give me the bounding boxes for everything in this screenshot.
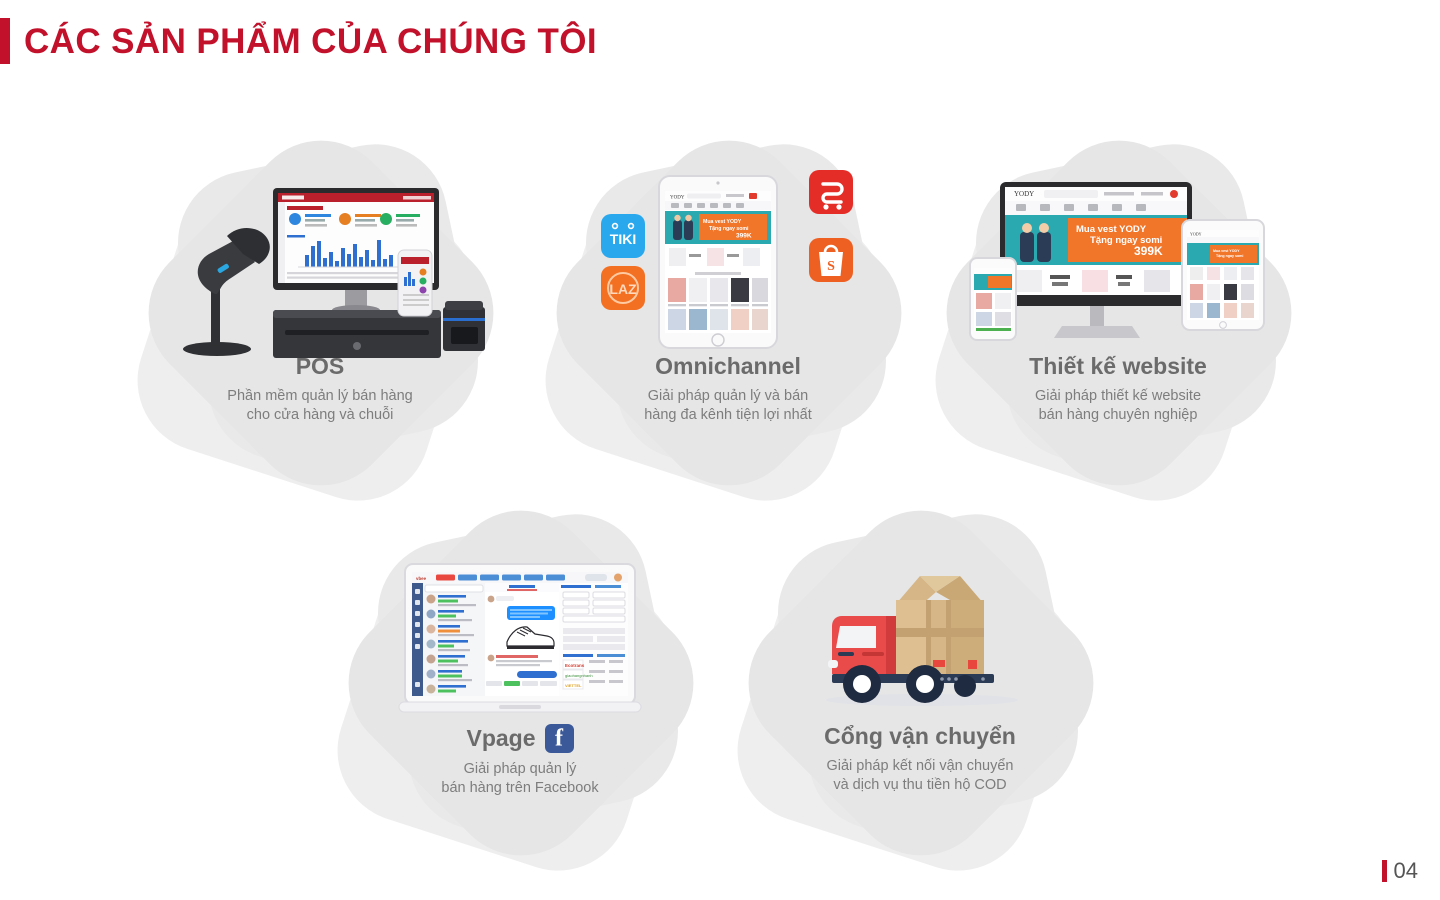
svg-text:LAZ: LAZ — [609, 281, 637, 297]
website-illustration: YODY Mua vest YODY Tặng ngay somi 3 — [958, 162, 1278, 362]
card-title-vpage: Vpage — [466, 724, 573, 753]
card-caption-vpage: Vpage Giải pháp quản lý bán hàng trên Fa… — [340, 724, 700, 799]
card-caption-pos: POS Phần mềm quản lý bán hàng cho cửa hà… — [140, 354, 500, 426]
svg-text:Tặng ngay somi: Tặng ngay somi — [709, 226, 749, 232]
card-title-website: Thiết kế website — [1029, 354, 1207, 380]
svg-text:TIKI: TIKI — [610, 231, 636, 247]
card-title-shipping: Cổng vận chuyển — [824, 724, 1016, 750]
product-card-omnichannel[interactable]: YODY Mua vest YODY Tặng ngay somi 399K — [548, 140, 908, 500]
card-desc-vpage: Giải pháp quản lý bán hàng trên Facebook — [340, 760, 700, 799]
pos-illustration — [155, 162, 485, 362]
svg-text:Mua vest YODY: Mua vest YODY — [1076, 224, 1147, 235]
svg-text:VIETTEL: VIETTEL — [565, 683, 582, 688]
card-desc-shipping: Giải pháp kết nối vận chuyển và dịch vụ … — [740, 757, 1100, 796]
responsive-devices-photo: YODY Mua vest YODY Tặng ngay somi 3 — [938, 162, 1298, 362]
svg-text:giaohangnhanh: giaohangnhanh — [565, 673, 593, 678]
lazada-logo: LAZ — [601, 266, 645, 310]
svg-text:YODY: YODY — [1014, 190, 1034, 198]
card-caption-shipping: Cổng vận chuyển Giải pháp kết nối vận ch… — [740, 724, 1100, 796]
page-number-text: 04 — [1394, 860, 1418, 882]
svg-text:399K: 399K — [736, 233, 752, 240]
svg-text:Ecotrans: Ecotrans — [565, 663, 585, 668]
slide-root: CÁC SẢN PHẨM CỦA CHÚNG TÔI — [0, 0, 1440, 900]
svg-text:vbee: vbee — [416, 576, 427, 581]
tablet-marketplace-photo: YODY Mua vest YODY Tặng ngay somi 399K — [548, 162, 908, 362]
shopee-logo: S — [809, 238, 853, 282]
product-card-pos[interactable]: POS Phần mềm quản lý bán hàng cho cửa hà… — [140, 140, 500, 500]
omnichannel-illustration: YODY Mua vest YODY Tặng ngay somi 399K — [583, 162, 873, 362]
card-desc-website: Giải pháp thiết kế website bán hàng chuy… — [938, 387, 1298, 426]
card-desc-pos: Phần mềm quản lý bán hàng cho cửa hàng v… — [140, 387, 500, 426]
card-caption-omnichannel: Omnichannel Giải pháp quản lý và bán hàn… — [548, 354, 908, 426]
page-number-accent-bar — [1382, 860, 1387, 882]
tiki-logo: TIKI — [601, 214, 645, 258]
svg-text:YODY: YODY — [1190, 232, 1202, 237]
laptop-chat-photo: vbee — [340, 532, 700, 732]
svg-text:Mua vest YODY: Mua vest YODY — [1213, 249, 1240, 253]
product-card-vpage[interactable]: vbee — [340, 510, 700, 870]
card-caption-website: Thiết kế website Giải pháp thiết kế webs… — [938, 354, 1298, 426]
svg-text:Mua vest YODY: Mua vest YODY — [703, 219, 742, 225]
product-card-website[interactable]: YODY Mua vest YODY Tặng ngay somi 3 — [938, 140, 1298, 500]
truck-illustration — [800, 542, 1040, 732]
delivery-truck-illustration — [740, 532, 1100, 732]
page-title: CÁC SẢN PHẨM CỦA CHÚNG TÔI — [0, 18, 597, 64]
page-number: 04 — [1382, 860, 1418, 882]
facebook-icon[interactable] — [545, 724, 574, 753]
svg-text:S: S — [827, 259, 835, 274]
title-accent-bar — [0, 18, 10, 64]
card-desc-omnichannel: Giải pháp quản lý và bán hàng đa kênh ti… — [548, 387, 908, 426]
svg-text:399K: 399K — [1134, 244, 1163, 258]
card-title-omnichannel: Omnichannel — [655, 354, 801, 380]
vpage-illustration: vbee — [389, 542, 651, 732]
svg-text:Tặng ngay somi: Tặng ngay somi — [1216, 254, 1243, 258]
sendo-logo — [809, 170, 853, 214]
pos-hardware-photo — [140, 162, 500, 362]
title-text: CÁC SẢN PHẨM CỦA CHÚNG TÔI — [24, 24, 597, 59]
svg-text:YODY: YODY — [670, 196, 685, 201]
product-card-shipping[interactable]: Cổng vận chuyển Giải pháp kết nối vận ch… — [740, 510, 1100, 870]
card-title-pos: POS — [296, 354, 345, 380]
